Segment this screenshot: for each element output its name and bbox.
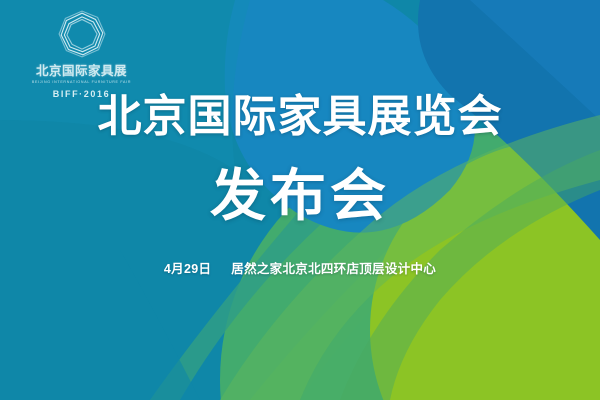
event-logo-lockup: 北京国际家具展 BEIJING INTERNATIONAL FURNITURE … xyxy=(24,8,139,99)
braided-ring-logo-icon xyxy=(54,8,110,60)
logo-chinese-name: 北京国际家具展 xyxy=(24,64,139,78)
logo-english-name: BEIJING INTERNATIONAL FURNITURE FAIR xyxy=(24,80,139,84)
logo-edition-text: BIFF·2016 xyxy=(24,89,139,99)
event-poster: 北京国际家具展 BEIJING INTERNATIONAL FURNITURE … xyxy=(0,0,600,400)
